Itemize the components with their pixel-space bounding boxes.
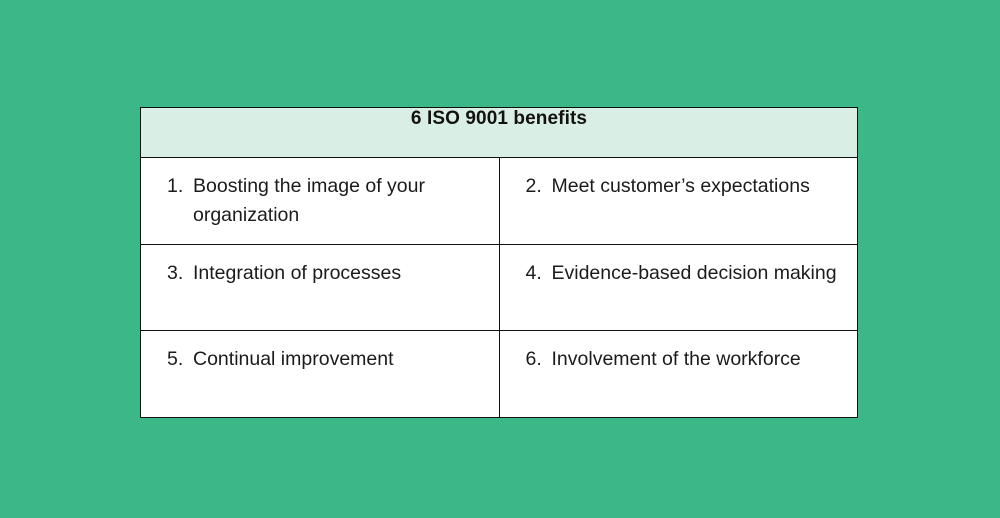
benefit-label: Meet customer’s expectations [552,172,840,201]
benefit-label: Evidence-based decision making [552,259,840,288]
list-item: 1. Boosting the image of your organizati… [141,158,499,240]
list-item: 3. Integration of processes [141,245,499,298]
benefit-number: 1. [167,172,193,201]
table-header-row: 6 ISO 9001 benefits [141,108,858,158]
list-item: 2. Meet customer’s expectations [500,158,858,211]
iso-benefits-table: 6 ISO 9001 benefits 1. Boosting the imag… [140,107,858,418]
benefit-label: Integration of processes [193,259,481,288]
benefit-number: 2. [526,172,552,201]
benefit-number: 5. [167,345,193,374]
benefit-label: Involvement of the workforce [552,345,840,374]
benefit-number: 3. [167,259,193,288]
table-row: 3. Integration of processes 4. Evidence-… [141,244,858,331]
table-head: 6 ISO 9001 benefits [141,108,858,158]
table-row: 5. Continual improvement 6. Involvement … [141,331,858,418]
list-item: 6. Involvement of the workforce [500,331,858,384]
table-body: 1. Boosting the image of your organizati… [141,158,858,418]
benefit-cell-5: 5. Continual improvement [141,331,500,418]
table-row: 1. Boosting the image of your organizati… [141,158,858,245]
benefit-cell-6: 6. Involvement of the workforce [499,331,858,418]
benefit-cell-1: 1. Boosting the image of your organizati… [141,158,500,245]
benefit-number: 4. [526,259,552,288]
benefit-cell-2: 2. Meet customer’s expectations [499,158,858,245]
benefit-cell-3: 3. Integration of processes [141,244,500,331]
benefit-label: Continual improvement [193,345,481,374]
page-canvas: 6 ISO 9001 benefits 1. Boosting the imag… [0,0,1000,518]
benefit-cell-4: 4. Evidence-based decision making [499,244,858,331]
table-title-cell: 6 ISO 9001 benefits [141,108,858,158]
benefit-number: 6. [526,345,552,374]
list-item: 4. Evidence-based decision making [500,245,858,298]
page-title: 6 ISO 9001 benefits [141,108,857,131]
benefit-label: Boosting the image of your organization [193,172,481,230]
list-item: 5. Continual improvement [141,331,499,384]
